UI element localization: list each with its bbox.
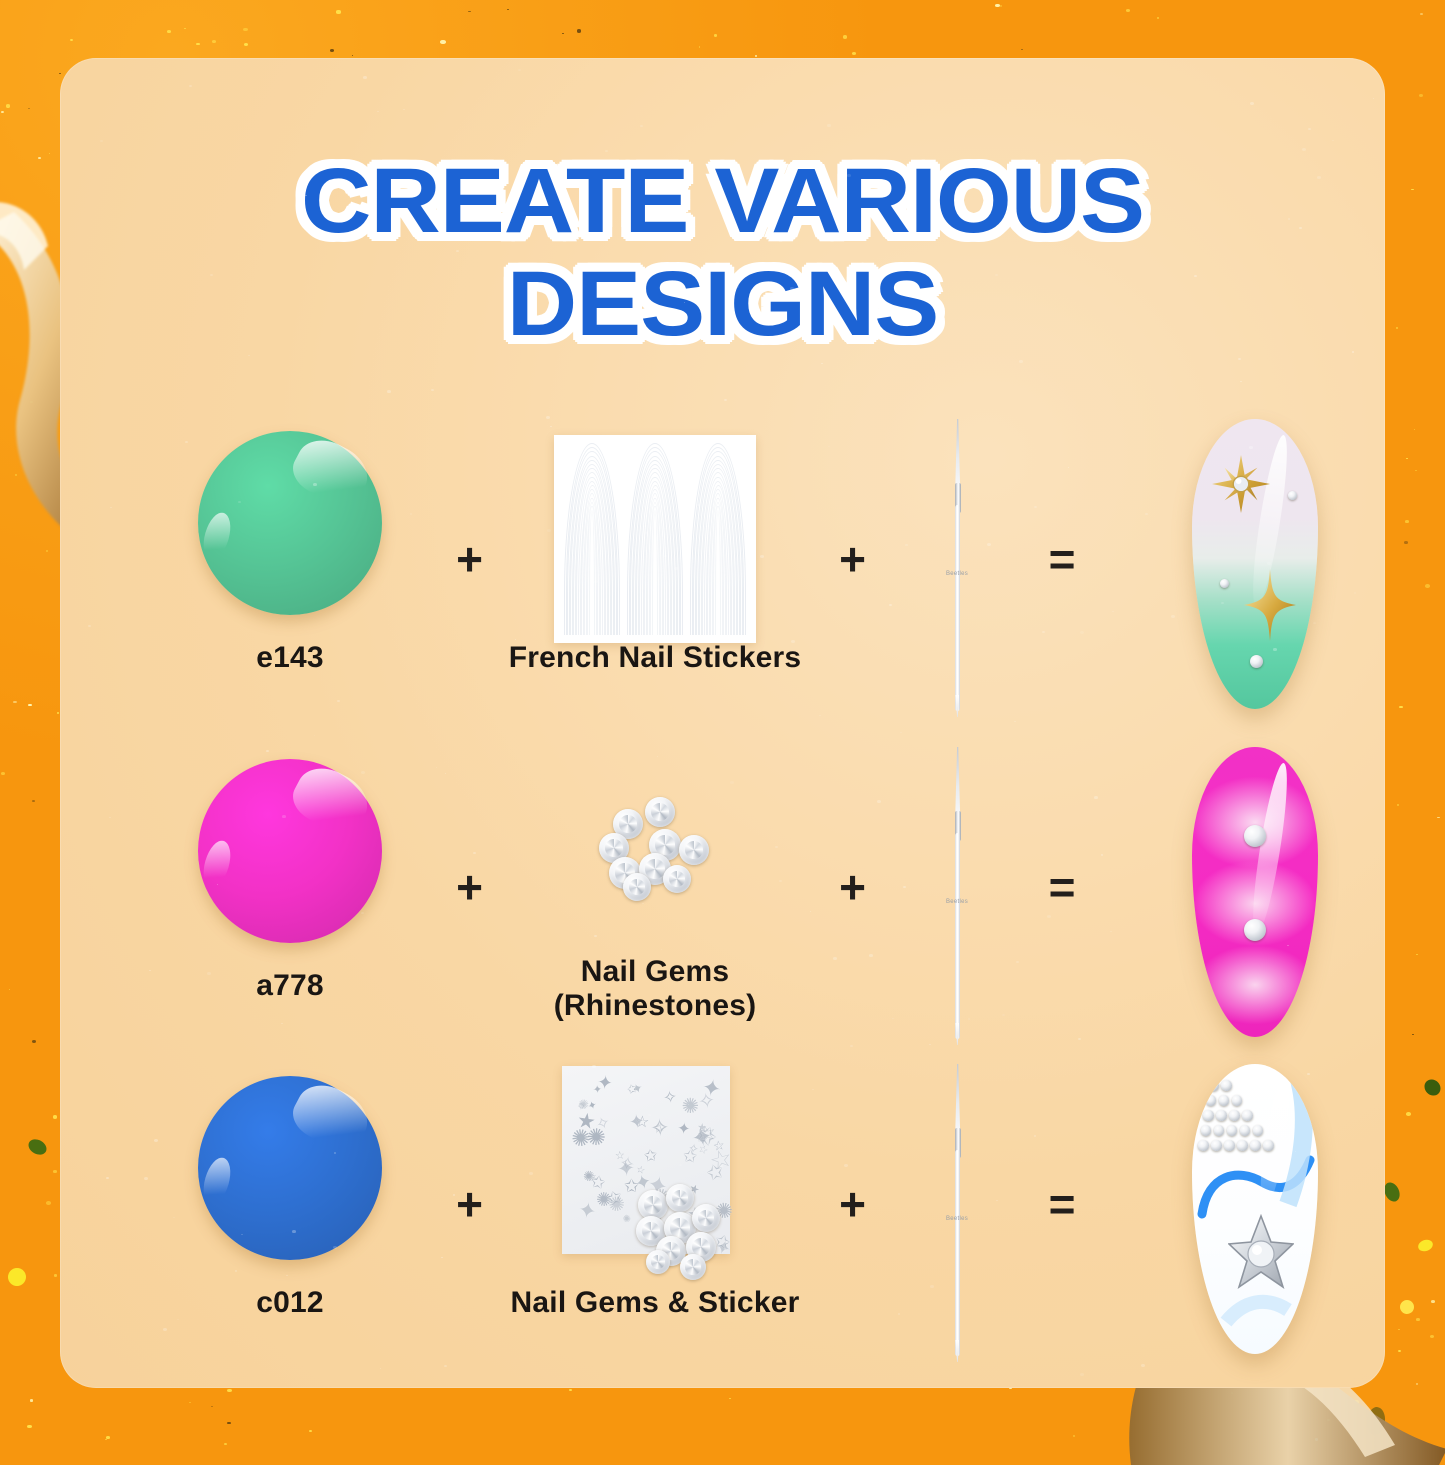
rhinestone — [1263, 1140, 1274, 1151]
panel-texture-speck — [313, 483, 317, 486]
star-sticker-glyph: ✦ — [576, 1198, 598, 1223]
panel-texture-speck — [1373, 98, 1374, 99]
panel-texture-speck — [1332, 140, 1334, 141]
equals-sign-cell-1: = — [1017, 413, 1107, 723]
panel-texture-speck — [282, 815, 286, 818]
panel-texture-speck — [1307, 1073, 1310, 1075]
item-cell-3: ✺✺✦☆✧☆☆✦✦✦✦★✩✩✧✺✺✦✦✺★★✺☆☆✧★☆☆✩✩✦✩☆✺✦✧✧★✦… — [505, 1058, 805, 1368]
rhinestone — [1288, 491, 1297, 500]
brush-logo-text: Beetles — [943, 899, 971, 905]
rhinestone — [1203, 1110, 1214, 1121]
panel-texture-speck — [1302, 148, 1306, 151]
pink-blurred-nail-art — [1192, 747, 1318, 1037]
brush-logo-text: Beetles — [943, 1216, 971, 1222]
panel-texture-speck — [387, 390, 391, 393]
panel-texture-speck — [403, 109, 405, 110]
panel-texture-speck — [109, 817, 111, 818]
panel-texture-speck — [154, 1139, 158, 1142]
panel-texture-speck — [682, 457, 686, 460]
panel-texture-speck — [106, 1177, 109, 1179]
french-guide-column — [564, 443, 620, 635]
panel-texture-speck — [674, 567, 678, 570]
rhinestone — [666, 1184, 694, 1212]
gold-8point-star-icon — [1212, 455, 1270, 513]
rhinestone — [1201, 1125, 1212, 1136]
panel-texture-speck — [361, 771, 365, 774]
nail-liner-brush: Beetles — [952, 747, 962, 1043]
brush-bristle — [955, 747, 960, 817]
rhinestone — [680, 1254, 706, 1280]
rhinestone-cluster — [593, 791, 717, 903]
mint-gradient-nail-art — [1192, 419, 1318, 709]
content-panel: CREATE VARIOUS DESIGNS e143 + French Nai… — [60, 58, 1385, 1388]
panel-texture-speck — [380, 1368, 381, 1369]
panel-texture-speck — [1078, 1038, 1081, 1040]
panel-texture-speck — [518, 69, 521, 71]
rhinestone — [1253, 1125, 1264, 1136]
french-guide-column — [627, 443, 683, 635]
panel-texture-speck — [515, 639, 516, 640]
rhinestone — [1211, 1140, 1222, 1151]
polish-code-label-3: c012 — [125, 1286, 455, 1320]
panel-texture-speck — [377, 111, 379, 112]
rhinestone — [1198, 1140, 1209, 1151]
panel-texture-speck — [1016, 961, 1019, 963]
panel-texture-speck — [546, 416, 550, 419]
panel-texture-speck — [1068, 467, 1069, 468]
panel-texture-speck — [827, 124, 831, 127]
panel-texture-speck — [1034, 1135, 1036, 1137]
panel-texture-speck — [361, 912, 364, 914]
panel-texture-speck — [1267, 562, 1271, 565]
polish-cell-2: a778 — [155, 741, 425, 1051]
panel-texture-speck — [869, 954, 873, 957]
star-sticker-glyph: ✩ — [682, 1147, 698, 1165]
panel-texture-speck — [730, 781, 734, 784]
panel-texture-speck — [189, 85, 192, 87]
panel-texture-speck — [1288, 218, 1290, 220]
panel-texture-speck — [207, 972, 211, 975]
panel-texture-speck — [1250, 102, 1254, 105]
equals-icon: = — [1017, 536, 1107, 582]
panel-texture-speck — [896, 323, 898, 324]
design-row-3: c012 + ✺✺✦☆✧☆☆✦✦✦✦★✩✩✧✺✺✦✦✺★★✺☆☆✧★☆☆✩✩✦✩… — [155, 1058, 1385, 1368]
rhinestone — [1224, 1140, 1235, 1151]
panel-texture-speck — [645, 532, 647, 534]
brush-cell-1: Beetles — [897, 413, 1017, 723]
equals-icon: = — [1017, 1181, 1107, 1227]
panel-texture-speck — [1352, 351, 1354, 353]
panel-texture-speck — [444, 1365, 447, 1367]
panel-texture-speck — [1231, 1095, 1234, 1097]
panel-texture-speck — [456, 250, 459, 252]
rhinestone — [1250, 655, 1263, 668]
panel-texture-speck — [363, 76, 367, 79]
plus-icon: + — [427, 536, 512, 582]
star-sticker-sheet-with-gems: ✺✺✦☆✧☆☆✦✦✦✦★✩✩✧✺✺✦✦✺★★✺☆☆✧★☆☆✩✩✦✩☆✺✦✧✧★✦… — [550, 1066, 760, 1276]
item-label-2-line2: (Rhinestones) — [475, 989, 835, 1023]
panel-texture-speck — [292, 1230, 296, 1233]
panel-texture-speck — [905, 544, 908, 546]
panel-texture-speck — [968, 1018, 970, 1020]
panel-texture-speck — [1094, 796, 1098, 799]
panel-texture-speck — [1303, 1194, 1306, 1196]
rhinestone — [1237, 1140, 1248, 1151]
result-cell-1 — [1105, 413, 1385, 723]
plus-icon: + — [427, 864, 512, 910]
plus-icon: + — [810, 1181, 895, 1227]
blue-wave-star-nail-art — [1192, 1064, 1318, 1354]
star-sticker-glyph: ✧ — [696, 1090, 717, 1113]
polish-cell-3: c012 — [155, 1058, 425, 1368]
panel-texture-speck — [625, 455, 627, 457]
panel-texture-speck — [1034, 506, 1037, 508]
rhinestone — [645, 797, 675, 827]
equals-sign-cell-3: = — [1017, 1058, 1107, 1368]
design-row-1: e143 + French Nail Stickers + Beetles = — [155, 413, 1385, 723]
panel-texture-speck — [594, 935, 597, 937]
blue-wave-line — [1192, 1064, 1318, 1354]
panel-texture-speck — [529, 1172, 533, 1175]
silver-star-charm-icon — [1228, 1214, 1294, 1290]
polish-code-label-1: e143 — [125, 641, 455, 675]
panel-texture-speck — [1002, 1014, 1005, 1016]
panel-texture-speck — [877, 800, 881, 803]
panel-texture-speck — [679, 1164, 682, 1166]
brush-handle — [955, 1150, 960, 1356]
panel-texture-speck — [847, 174, 851, 177]
panel-texture-speck — [1019, 360, 1023, 363]
polish-code-label-2: a778 — [125, 969, 455, 1003]
plus-sign-cell-1b: + — [810, 413, 895, 723]
result-cell-3 — [1105, 1058, 1385, 1368]
star-sticker-glyph: ✧ — [649, 1116, 671, 1141]
pink-gel-polish-drop — [198, 759, 382, 943]
green-gel-polish-drop — [198, 431, 382, 615]
panel-texture-speck — [1238, 358, 1241, 360]
panel-texture-speck — [1287, 945, 1289, 946]
panel-texture-speck — [642, 903, 644, 904]
equals-icon: = — [1017, 864, 1107, 910]
panel-texture-speck — [1308, 128, 1311, 130]
rhinestone — [1242, 1110, 1253, 1121]
panel-texture-speck — [410, 513, 412, 515]
brush-logo-text: Beetles — [943, 571, 971, 577]
panel-texture-speck — [144, 1177, 148, 1180]
panel-texture-speck — [1080, 1373, 1084, 1376]
panel-texture-speck — [1240, 381, 1242, 382]
design-row-2: a778 + Nail Gems (Rhinestones) + Beetles — [155, 741, 1385, 1051]
rhinestone — [663, 865, 691, 893]
panel-texture-speck — [1047, 915, 1051, 918]
plus-sign-cell-2b: + — [810, 741, 895, 1051]
nail-gloss-highlight — [1247, 761, 1294, 936]
panel-texture-speck — [334, 1152, 336, 1154]
panel-texture-speck — [889, 604, 892, 606]
panel-texture-speck — [453, 1194, 455, 1196]
result-cell-2 — [1105, 741, 1385, 1051]
nail-liner-brush: Beetles — [952, 1064, 962, 1360]
panel-texture-speck — [314, 735, 315, 736]
panel-texture-speck — [790, 287, 794, 290]
panel-texture-speck — [1354, 592, 1356, 594]
brush-bristle — [955, 1064, 960, 1134]
gold-4point-sparkle-icon — [1244, 569, 1296, 641]
plus-icon: + — [427, 1181, 512, 1227]
panel-texture-speck — [648, 1114, 651, 1116]
brush-handle — [955, 505, 960, 711]
french-guide-column — [690, 443, 746, 635]
rhinestone — [623, 873, 651, 901]
plus-icon: + — [810, 864, 895, 910]
plus-sign-cell-3a: + — [427, 1058, 512, 1368]
item-label-2: Nail Gems (Rhinestones) — [475, 955, 835, 1022]
rhinestone — [1216, 1110, 1227, 1121]
nail-liner-brush: Beetles — [952, 419, 962, 715]
star-sticker-glyph: ✧ — [662, 1088, 679, 1107]
rhinestone — [1221, 1080, 1232, 1091]
plus-sign-cell-3b: + — [810, 1058, 895, 1368]
rhinestone-overlay-cluster — [636, 1184, 728, 1268]
item-cell-2: Nail Gems (Rhinestones) — [505, 741, 805, 1051]
item-label-1: French Nail Stickers — [475, 641, 835, 675]
equals-sign-cell-2: = — [1017, 741, 1107, 1051]
panel-texture-speck — [775, 846, 778, 848]
panel-texture-speck — [341, 160, 344, 162]
plus-sign-cell-1a: + — [427, 413, 512, 723]
panel-texture-speck — [724, 399, 727, 401]
title-line-2: DESIGNS — [60, 261, 1385, 348]
brush-cell-3: Beetles — [897, 1058, 1017, 1368]
item-label-2-line1: Nail Gems — [475, 955, 835, 989]
rhinestone — [1244, 825, 1266, 847]
panel-texture-speck — [333, 1246, 337, 1249]
brush-handle — [955, 833, 960, 1039]
rhinestone — [1240, 1125, 1251, 1136]
panel-texture-speck — [110, 507, 112, 508]
panel-texture-speck — [473, 852, 476, 854]
blue-gel-polish-drop — [198, 1076, 382, 1260]
panel-texture-speck — [870, 196, 871, 197]
star-sticker-glyph: ✦ — [676, 1121, 691, 1138]
rhinestone — [679, 835, 709, 865]
panel-texture-speck — [805, 329, 807, 330]
plus-icon: + — [810, 536, 895, 582]
panel-texture-speck — [605, 150, 608, 152]
rhinestone — [692, 1204, 720, 1232]
panel-texture-speck — [248, 355, 250, 356]
polish-cell-1: e143 — [155, 413, 425, 723]
french-sticker-sheet — [554, 435, 756, 643]
rhinestone — [1250, 1140, 1261, 1151]
panel-texture-speck — [724, 1248, 726, 1250]
rhinestone — [1206, 1095, 1217, 1106]
brush-cell-2: Beetles — [897, 741, 1017, 1051]
page-title: CREATE VARIOUS DESIGNS — [60, 158, 1385, 349]
panel-texture-speck — [900, 732, 902, 733]
rhinestone — [1208, 1080, 1219, 1091]
panel-texture-speck — [833, 957, 837, 960]
panel-texture-speck — [100, 140, 103, 142]
item-cell-1: French Nail Stickers — [505, 413, 805, 723]
panel-texture-speck — [88, 625, 91, 627]
panel-texture-speck — [760, 555, 764, 558]
rhinestone — [1227, 1125, 1238, 1136]
panel-texture-speck — [1080, 631, 1084, 634]
panel-texture-speck — [640, 125, 643, 127]
rhinestone — [1219, 1095, 1230, 1106]
rhinestone — [646, 1250, 670, 1274]
panel-texture-speck — [995, 274, 998, 276]
panel-texture-speck — [1014, 721, 1016, 722]
panel-texture-speck — [177, 1319, 179, 1320]
brush-bristle — [955, 419, 960, 489]
panel-texture-speck — [1273, 648, 1277, 651]
panel-texture-speck — [1141, 1364, 1145, 1367]
star-sticker-glyph: ☆ — [635, 1115, 650, 1132]
panel-texture-speck — [987, 543, 991, 546]
star-sticker-glyph: ✦ — [596, 1073, 614, 1094]
item-label-3: Nail Gems & Sticker — [475, 1286, 835, 1320]
rhinestone — [1229, 1110, 1240, 1121]
panel-texture-speck — [431, 389, 434, 391]
panel-texture-speck — [1317, 176, 1321, 179]
star-sticker-glyph: ✩ — [643, 1148, 658, 1165]
rhinestone — [1220, 579, 1229, 588]
rhinestone — [1214, 1125, 1225, 1136]
panel-texture-speck — [547, 529, 551, 532]
panel-texture-speck — [1233, 1228, 1237, 1231]
panel-texture-speck — [1171, 615, 1175, 618]
panel-texture-speck — [735, 285, 739, 288]
panel-texture-speck — [821, 363, 823, 364]
title-line-1: CREATE VARIOUS — [60, 158, 1385, 245]
panel-texture-speck — [235, 1270, 237, 1272]
rhinestone — [1244, 919, 1266, 941]
